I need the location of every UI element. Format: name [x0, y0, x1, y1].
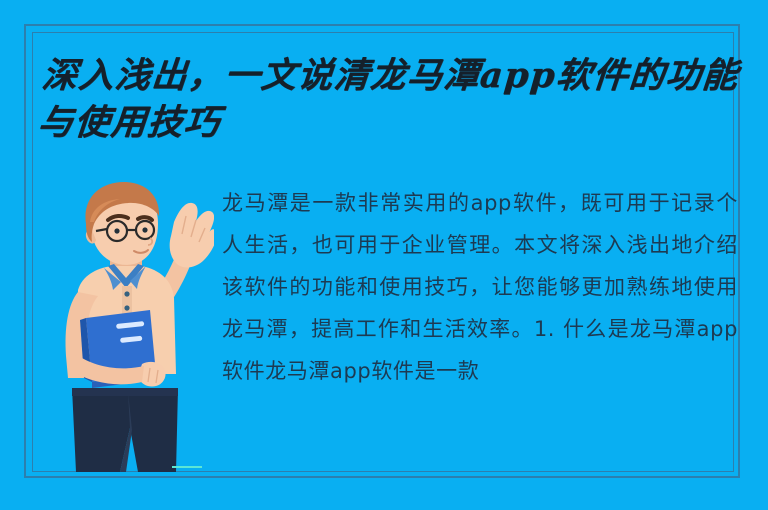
- poster-canvas: 深入浅出，一文说清龙马潭app软件的功能与使用技巧: [0, 0, 768, 510]
- accent-line: [172, 466, 202, 468]
- waving-hand: [170, 203, 214, 268]
- article-body: 龙马潭是一款非常实用的app软件，既可用于记录个人生活，也可用于企业管理。本文将…: [222, 182, 738, 470]
- illustration-man-waving-holding-book: [46, 178, 214, 472]
- article-body-text: 龙马潭是一款非常实用的app软件，既可用于记录个人生活，也可用于企业管理。本文将…: [222, 182, 738, 392]
- page-title-text: 深入浅出，一文说清龙马潭app软件的功能与使用技巧: [36, 52, 744, 146]
- page-title: 深入浅出，一文说清龙马潭app软件的功能与使用技巧: [44, 52, 744, 146]
